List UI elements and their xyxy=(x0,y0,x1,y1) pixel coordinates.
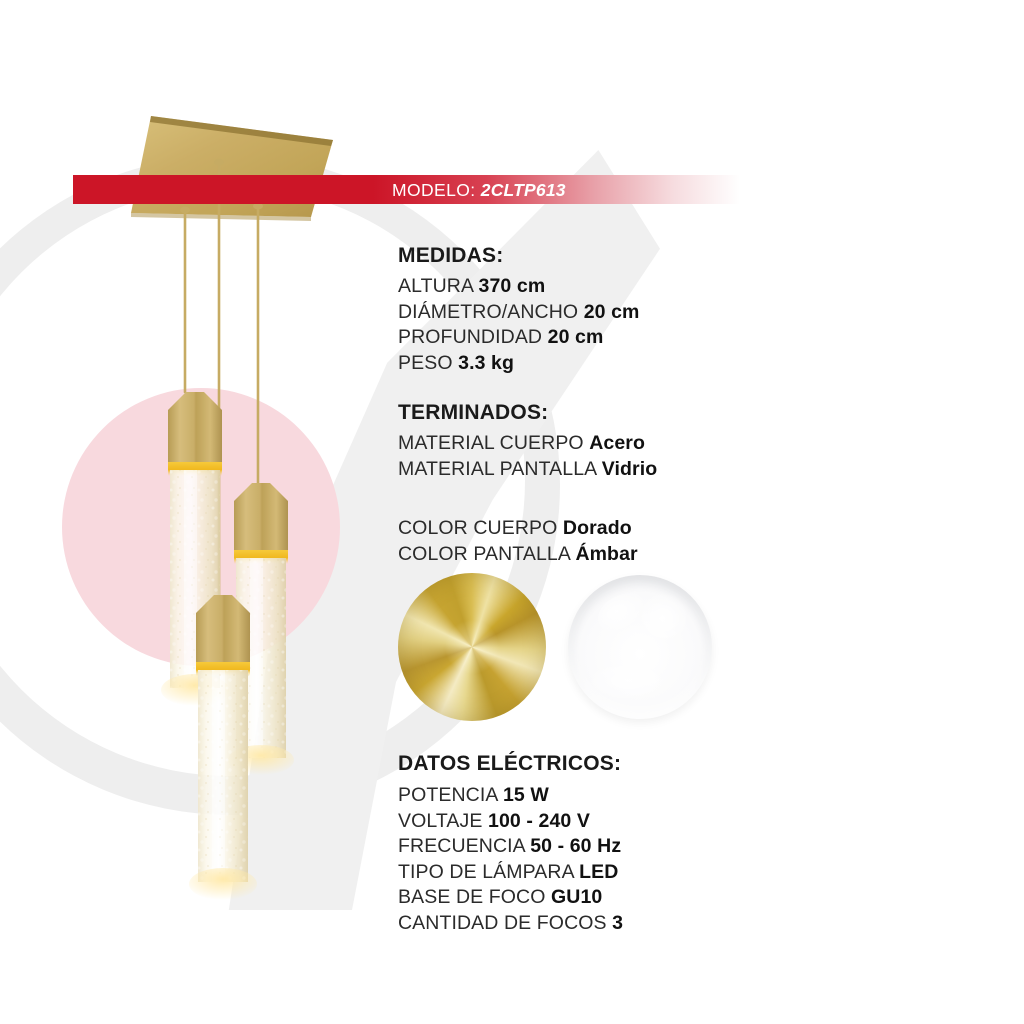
spec-label: MATERIAL PANTALLA xyxy=(398,458,596,480)
datos-electricos-heading: DATOS ELÉCTRICOS: xyxy=(398,752,621,776)
pendant-light-3 xyxy=(189,595,257,900)
spec-row: MATERIAL PANTALLA Vidrio xyxy=(398,457,657,483)
spec-label: COLOR CUERPO xyxy=(398,517,557,539)
pendant-lamp-illustration xyxy=(0,0,400,1024)
spec-value: LED xyxy=(579,861,618,883)
ceiling-canopy-plate xyxy=(131,116,333,221)
spec-label: BASE DE FOCO xyxy=(398,886,545,908)
terminados-heading: TERMINADOS: xyxy=(398,401,548,425)
gold-body-swatch xyxy=(398,573,546,721)
spec-row: COLOR PANTALLA Ámbar xyxy=(398,542,638,568)
spec-row: POTENCIA 15 W xyxy=(398,783,623,809)
spec-row: MATERIAL CUERPO Acero xyxy=(398,431,657,457)
spec-value: 370 cm xyxy=(479,275,546,297)
color-swatches xyxy=(398,573,738,728)
spec-value: 100 - 240 V xyxy=(488,810,590,832)
datos-electricos-list: POTENCIA 15 W VOLTAJE 100 - 240 V FRECUE… xyxy=(398,783,623,936)
spec-value: Acero xyxy=(589,432,645,454)
lamp-drawing xyxy=(0,0,400,1024)
spec-label: PROFUNDIDAD xyxy=(398,326,542,348)
spec-row: CANTIDAD DE FOCOS 3 xyxy=(398,911,623,937)
spec-value: 20 cm xyxy=(584,301,640,323)
spec-row: PESO 3.3 kg xyxy=(398,351,639,377)
spec-label: ALTURA xyxy=(398,275,473,297)
spec-label: DIÁMETRO/ANCHO xyxy=(398,301,578,323)
spec-row: PROFUNDIDAD 20 cm xyxy=(398,325,639,351)
spec-value: GU10 xyxy=(551,886,602,908)
spec-label: MATERIAL CUERPO xyxy=(398,432,584,454)
spec-row: BASE DE FOCO GU10 xyxy=(398,885,623,911)
spec-label: COLOR PANTALLA xyxy=(398,543,570,565)
spec-row: FRECUENCIA 50 - 60 Hz xyxy=(398,834,623,860)
model-number: 2CLTP613 xyxy=(481,180,566,200)
spec-label: POTENCIA xyxy=(398,784,497,806)
spec-value: Vidrio xyxy=(602,458,658,480)
spec-value: 3 xyxy=(612,912,623,934)
spec-row: ALTURA 370 cm xyxy=(398,274,639,300)
model-label: MODELO: xyxy=(392,180,476,200)
model-banner-text: MODELO: 2CLTP613 xyxy=(392,176,566,204)
spec-label: CANTIDAD DE FOCOS xyxy=(398,912,607,934)
spec-row: VOLTAJE 100 - 240 V xyxy=(398,809,623,835)
spec-value: 20 cm xyxy=(548,326,604,348)
spec-row: COLOR CUERPO Dorado xyxy=(398,516,638,542)
spec-value: Ámbar xyxy=(575,543,637,565)
spec-label: PESO xyxy=(398,352,453,374)
spec-label: VOLTAJE xyxy=(398,810,483,832)
colores-list: COLOR CUERPO Dorado COLOR PANTALLA Ámbar xyxy=(398,516,638,567)
spec-value: 15 W xyxy=(503,784,549,806)
medidas-list: ALTURA 370 cm DIÁMETRO/ANCHO 20 cm PROFU… xyxy=(398,274,639,376)
materiales-list: MATERIAL CUERPO Acero MATERIAL PANTALLA … xyxy=(398,431,657,482)
spec-row: TIPO DE LÁMPARA LED xyxy=(398,860,623,886)
spec-value: 50 - 60 Hz xyxy=(530,835,621,857)
glass-shade-swatch xyxy=(568,575,712,719)
spec-value: Dorado xyxy=(563,517,632,539)
product-spec-sheet: MODELO: 2CLTP613 MEDIDAS: ALTURA 370 cm … xyxy=(0,0,1024,1024)
medidas-heading: MEDIDAS: xyxy=(398,244,503,268)
spec-row: DIÁMETRO/ANCHO 20 cm xyxy=(398,300,639,326)
spec-value: 3.3 kg xyxy=(458,352,514,374)
spec-label: FRECUENCIA xyxy=(398,835,525,857)
spec-label: TIPO DE LÁMPARA xyxy=(398,861,574,883)
